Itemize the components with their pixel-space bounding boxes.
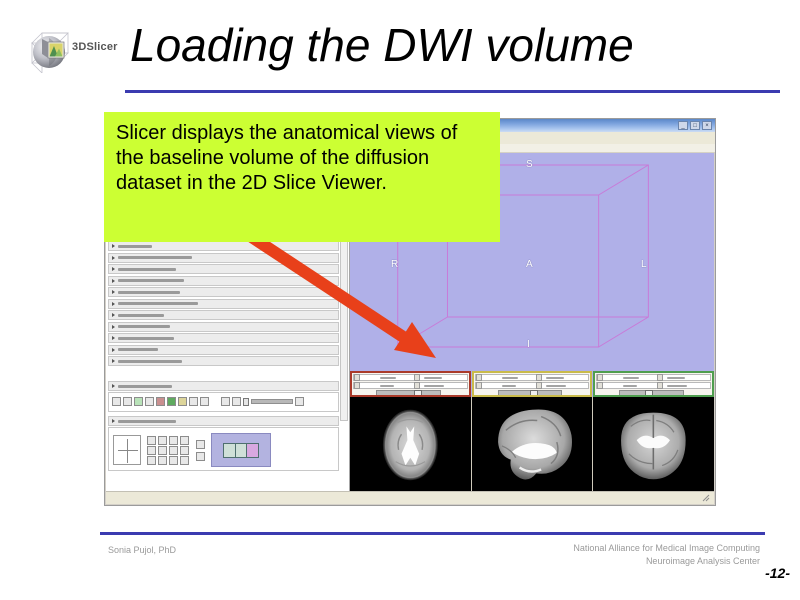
label-selector[interactable] (414, 382, 420, 389)
fiducial-toggle-icon[interactable] (597, 382, 603, 389)
opacity-slider-knob[interactable] (243, 398, 249, 406)
slice-offset-slider[interactable] (376, 390, 441, 396)
layout-chooser (108, 427, 339, 471)
chevron-right-icon (112, 359, 115, 363)
anterior-label: A (526, 259, 533, 270)
chevron-right-icon (112, 348, 115, 352)
slice-controllers (350, 371, 714, 397)
layout-preset-button[interactable] (158, 446, 167, 455)
layout-extra-button[interactable] (196, 440, 205, 449)
views-toolbar (108, 392, 339, 412)
view-button-8[interactable] (189, 397, 198, 406)
layout-preset-button[interactable] (158, 436, 167, 445)
callout-box: Slicer displays the anatomical views of … (104, 112, 500, 242)
view-settings-icon[interactable] (295, 397, 304, 406)
chevron-right-icon (112, 384, 115, 388)
view-button-4[interactable] (145, 397, 154, 406)
close-button[interactable]: × (702, 121, 712, 130)
chevron-right-icon (112, 302, 115, 306)
slice-offset-knob[interactable] (645, 390, 653, 396)
slice-offset-knob[interactable] (530, 390, 538, 396)
chevron-right-icon (112, 325, 115, 329)
page-title: Loading the DWI volume (130, 21, 780, 69)
opacity-slider[interactable] (251, 399, 293, 404)
axial-slice-controller[interactable] (350, 371, 471, 397)
section-header-layout[interactable] (108, 416, 339, 426)
orientation-navigation-pad[interactable] (113, 435, 141, 465)
sagittal-slice-controller[interactable] (472, 371, 593, 397)
footer-org-line2: Neuroimage Analysis Center (573, 555, 760, 568)
maximize-button[interactable]: □ (690, 121, 700, 130)
sagittal-slice-viewer[interactable] (472, 397, 593, 491)
coronal-slice-controller[interactable] (593, 371, 714, 397)
list-item[interactable] (108, 276, 339, 286)
layout-preset-grid (147, 436, 190, 465)
coronal-brain-image (593, 397, 714, 491)
slicer-logo: 3DSlicer (18, 25, 128, 77)
footer-divider (100, 532, 765, 535)
view-button-2[interactable] (123, 397, 132, 406)
superior-label: S (526, 159, 533, 170)
slicer-sphere-logo-icon (28, 29, 72, 73)
list-item[interactable] (108, 333, 339, 343)
status-bar (106, 491, 714, 504)
zoom-out-icon[interactable] (232, 397, 241, 406)
layout-extra-button[interactable] (196, 452, 205, 461)
visibility-toggle-icon[interactable] (597, 374, 603, 381)
layout-preset-button[interactable] (180, 446, 189, 455)
page-number: -12- (765, 565, 790, 581)
layout-preset-button[interactable] (147, 456, 156, 465)
view-button-3[interactable] (134, 397, 143, 406)
sagittal-brain-image (472, 397, 593, 491)
slicer-logo-text: 3DSlicer (72, 41, 118, 53)
inferior-label: I (527, 339, 530, 350)
visibility-toggle-icon[interactable] (354, 374, 360, 381)
view-button-9[interactable] (200, 397, 209, 406)
slide-canvas: 3DSlicer Loading the DWI volume _ □ × (0, 0, 800, 600)
layout-preset-button[interactable] (147, 446, 156, 455)
foreground-selector[interactable] (414, 374, 420, 381)
chevron-right-icon (112, 244, 115, 248)
axial-slice-viewer[interactable] (350, 397, 471, 491)
foreground-selector[interactable] (657, 374, 663, 381)
list-item[interactable] (108, 356, 339, 366)
layout-preset-button[interactable] (147, 436, 156, 445)
label-selector[interactable] (536, 382, 542, 389)
layout-preset-button[interactable] (180, 456, 189, 465)
zoom-in-icon[interactable] (221, 397, 230, 406)
list-item[interactable] (108, 310, 339, 320)
foreground-selector[interactable] (536, 374, 542, 381)
view-button-7[interactable] (178, 397, 187, 406)
list-item[interactable] (108, 241, 339, 251)
footer-organization: National Alliance for Medical Image Comp… (573, 542, 760, 568)
layout-preset-button[interactable] (158, 456, 167, 465)
label-selector[interactable] (657, 382, 663, 389)
view-button-5[interactable] (156, 397, 165, 406)
visibility-toggle-icon[interactable] (476, 374, 482, 381)
list-item[interactable] (108, 299, 339, 309)
view-button-1[interactable] (112, 397, 121, 406)
list-item[interactable] (108, 264, 339, 274)
list-item[interactable] (108, 322, 339, 332)
module-accordion (108, 241, 339, 377)
axial-brain-image (350, 397, 471, 491)
layout-preset-button[interactable] (180, 436, 189, 445)
list-item[interactable] (108, 287, 339, 297)
list-item[interactable] (108, 345, 339, 355)
chevron-right-icon (112, 279, 115, 283)
layout-preset-button[interactable] (169, 446, 178, 455)
fiducial-toggle-icon[interactable] (476, 382, 482, 389)
chevron-right-icon (112, 267, 115, 271)
right-label: R (391, 259, 398, 270)
chevron-right-icon (112, 256, 115, 260)
footer-org-line1: National Alliance for Medical Image Comp… (573, 542, 760, 555)
footer-author: Sonia Pujol, PhD (108, 545, 176, 555)
fiducial-toggle-icon[interactable] (354, 382, 360, 389)
title-divider (125, 90, 780, 93)
chevron-right-icon (112, 313, 115, 317)
coronal-slice-viewer[interactable] (593, 397, 714, 491)
chevron-right-icon (112, 290, 115, 294)
list-item[interactable] (108, 253, 339, 263)
window-controls: _ □ × (678, 121, 712, 130)
chevron-right-icon (112, 336, 115, 340)
layout-preset-button[interactable] (169, 436, 178, 445)
layout-preview (211, 433, 271, 467)
slice-offset-knob[interactable] (414, 390, 422, 396)
layout-preset-button[interactable] (169, 456, 178, 465)
left-label: L (641, 259, 647, 270)
section-header-views[interactable] (108, 381, 339, 391)
slice-viewers (350, 397, 714, 491)
minimize-button[interactable]: _ (678, 121, 688, 130)
view-button-6[interactable] (167, 397, 176, 406)
resize-grip-icon[interactable] (702, 494, 710, 502)
chevron-right-icon (112, 419, 115, 423)
